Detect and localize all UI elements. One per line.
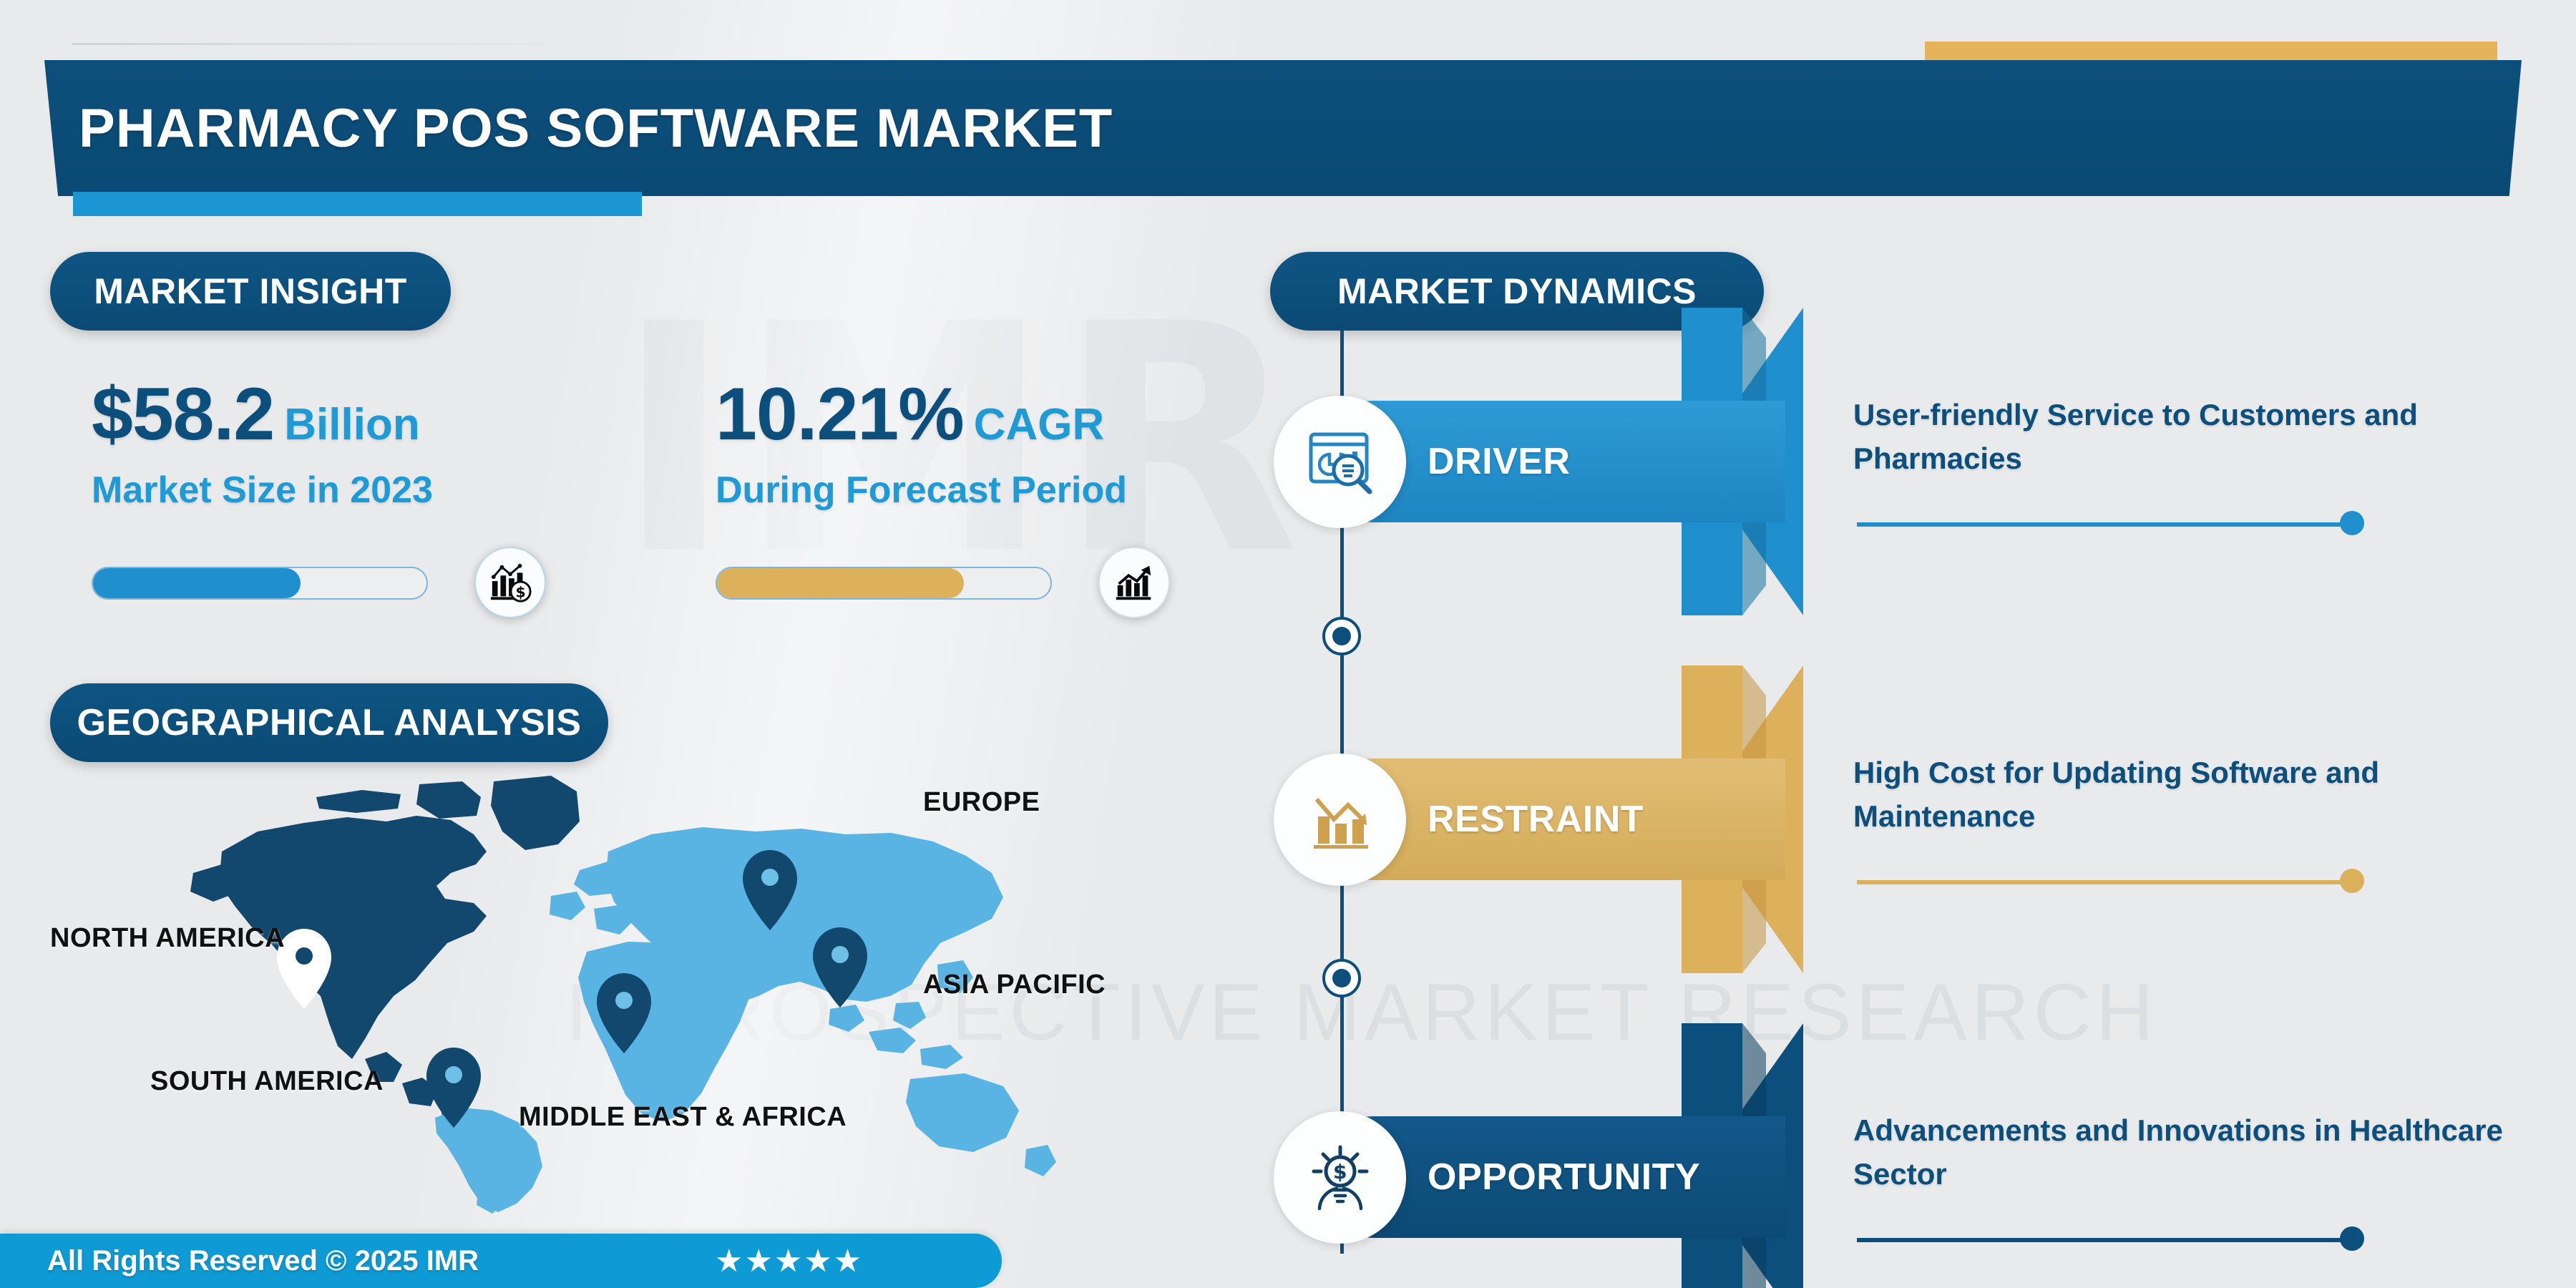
growth-arrow-chart-icon <box>1098 547 1170 618</box>
stat-market-size: $58.2Billion Market Size in 2023 <box>92 372 433 512</box>
driver-label: DRIVER <box>1428 440 1570 483</box>
stat-cagr-unit: CAGR <box>974 399 1105 450</box>
copyright-text: All Rights Reserved © 2025 IMR <box>47 1245 479 1277</box>
stat-cagr: 10.21%CAGR During Forecast Period <box>716 372 1127 512</box>
map-label-north-america: NORTH AMERICA <box>50 923 285 954</box>
svg-text:$: $ <box>1333 1160 1347 1184</box>
stat-market-size-value: $58.2 <box>92 372 274 457</box>
map-label-europe: EUROPE <box>923 787 1040 818</box>
header-bar: PHARMACY POS SOFTWARE MARKET <box>44 60 2522 196</box>
stat-market-size-caption: Market Size in 2023 <box>92 469 433 512</box>
market-dynamics-item-restraint: RESTRAINT High Cost for Updating Softwar… <box>1281 716 2540 923</box>
svg-text:$: $ <box>515 583 525 600</box>
restraint-label: RESTRAINT <box>1428 798 1644 841</box>
spine-node-1 <box>1322 617 1361 655</box>
driver-badge: DRIVER <box>1313 401 1785 522</box>
driver-underline <box>1857 522 2351 527</box>
footer-bar: All Rights Reserved © 2025 IMR ★★★★★ <box>0 1234 1002 1288</box>
cagr-progress <box>716 558 1188 608</box>
stat-cagr-value: 10.21% <box>716 372 964 457</box>
driver-end-dot <box>2340 511 2364 535</box>
opportunity-description: Advancements and Innovations in Healthca… <box>1853 1109 2519 1196</box>
map-region-oceania <box>829 1005 1056 1176</box>
star-rating: ★★★★★ <box>715 1243 863 1279</box>
dashboard-magnifier-icon <box>1274 396 1406 528</box>
bar-chart-dollar-icon: $ <box>474 547 546 618</box>
opportunity-underline <box>1857 1238 2351 1242</box>
market-size-progress-fill <box>93 568 301 598</box>
market-insight-heading: MARKET INSIGHT <box>50 252 451 331</box>
page-title: PHARMACY POS SOFTWARE MARKET <box>79 97 1113 160</box>
declining-bar-chart-icon <box>1274 753 1406 886</box>
opportunity-badge: OPPORTUNITY $ <box>1313 1116 1785 1238</box>
map-label-south-america: SOUTH AMERICA <box>150 1066 384 1097</box>
market-dynamics-item-driver: DRIVER User-friendly Service to Customer… <box>1281 358 2540 565</box>
map-label-asia-pacific: ASIA PACIFIC <box>923 970 1106 1000</box>
opportunity-label: OPPORTUNITY <box>1428 1156 1700 1199</box>
opportunity-end-dot <box>2340 1226 2364 1251</box>
spine-node-2 <box>1322 959 1361 997</box>
map-label-middle-east-africa: MIDDLE EAST & AFRICA <box>519 1102 847 1133</box>
stat-cagr-caption: During Forecast Period <box>716 469 1127 512</box>
cagr-progress-fill <box>717 568 964 598</box>
stat-market-size-unit: Billion <box>284 399 419 450</box>
restraint-badge: RESTRAINT <box>1313 758 1785 880</box>
lightbulb-dollar-icon: $ <box>1274 1111 1406 1244</box>
restraint-description: High Cost for Updating Software and Main… <box>1853 751 2519 839</box>
market-size-progress: $ <box>92 558 564 608</box>
driver-description: User-friendly Service to Customers and P… <box>1853 394 2519 481</box>
restraint-underline <box>1857 880 2351 884</box>
geographical-analysis-heading: GEOGRAPHICAL ANALYSIS <box>50 683 608 762</box>
market-dynamics-item-opportunity: OPPORTUNITY $ <box>1281 1073 2540 1281</box>
restraint-end-dot <box>2340 869 2364 893</box>
header-blue-accent-bar <box>73 192 642 216</box>
header-thin-rule <box>72 43 544 45</box>
